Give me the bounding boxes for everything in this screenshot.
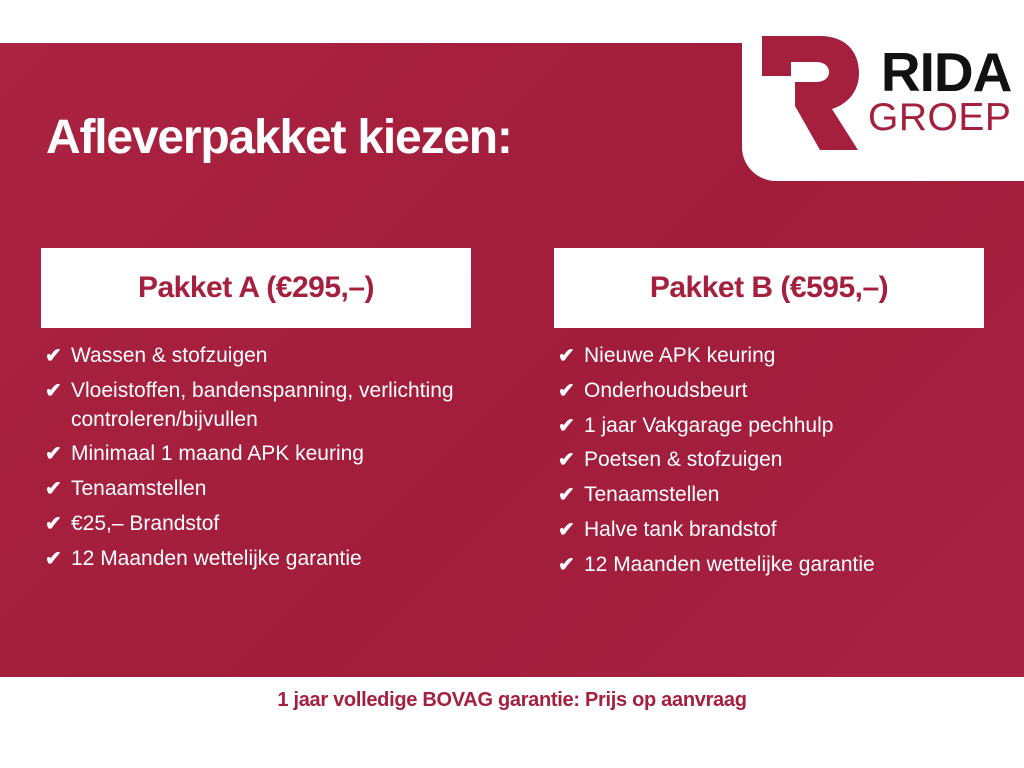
feature-label: Tenaamstellen: [584, 481, 984, 510]
list-item: ✔ Nieuwe APK keuring: [554, 342, 984, 371]
check-icon: ✔: [45, 342, 71, 370]
logo-wordmark: RIDA GROEP: [868, 47, 1011, 135]
check-icon: ✔: [45, 510, 71, 538]
footer-bar: 1 jaar volledige BOVAG garantie: Prijs o…: [0, 677, 1024, 768]
feature-label: 12 Maanden wettelijke garantie: [71, 545, 471, 574]
footer-note: 1 jaar volledige BOVAG garantie: Prijs o…: [277, 689, 746, 712]
package-b-feature-list: ✔ Nieuwe APK keuring ✔ Onderhoudsbeurt ✔…: [554, 342, 984, 579]
feature-label: Tenaamstellen: [71, 475, 471, 504]
logo-name-secondary: GROEP: [868, 100, 1011, 136]
feature-label: Vloeistoffen, bandenspanning, verlichtin…: [71, 377, 471, 435]
feature-label: Onderhoudsbeurt: [584, 377, 984, 406]
page-title: Afleverpakket kiezen:: [46, 110, 512, 165]
package-column-a: Pakket A (€295,–) ✔ Wassen & stofzuigen …: [41, 248, 471, 579]
list-item: ✔ Vloeistoffen, bandenspanning, verlicht…: [41, 377, 471, 435]
list-item: ✔ Tenaamstellen: [41, 475, 471, 504]
list-item: ✔ 12 Maanden wettelijke garantie: [554, 551, 984, 580]
check-icon: ✔: [558, 377, 584, 405]
feature-label: Wassen & stofzuigen: [71, 342, 471, 371]
check-icon: ✔: [558, 516, 584, 544]
list-item: ✔ Tenaamstellen: [554, 481, 984, 510]
check-icon: ✔: [45, 440, 71, 468]
feature-label: Nieuwe APK keuring: [584, 342, 984, 371]
list-item: ✔ €25,– Brandstof: [41, 510, 471, 539]
package-column-b: Pakket B (€595,–) ✔ Nieuwe APK keuring ✔…: [554, 248, 984, 585]
list-item: ✔ Minimaal 1 maand APK keuring: [41, 440, 471, 469]
check-icon: ✔: [558, 551, 584, 579]
list-item: ✔ 12 Maanden wettelijke garantie: [41, 545, 471, 574]
check-icon: ✔: [45, 545, 71, 573]
list-item: ✔ Halve tank brandstof: [554, 516, 984, 545]
package-b-title: Pakket B (€595,–): [650, 271, 888, 305]
slide-root: RIDA GROEP Afleverpakket kiezen: Pakket …: [0, 0, 1024, 768]
check-icon: ✔: [558, 342, 584, 370]
list-item: ✔ 1 jaar Vakgarage pechhulp: [554, 412, 984, 441]
package-b-header: Pakket B (€595,–): [554, 248, 984, 328]
feature-label: €25,– Brandstof: [71, 510, 471, 539]
check-icon: ✔: [558, 412, 584, 440]
feature-label: 1 jaar Vakgarage pechhulp: [584, 412, 984, 441]
list-item: ✔ Onderhoudsbeurt: [554, 377, 984, 406]
rida-r-monogram-icon: [754, 34, 862, 152]
logo-panel: RIDA GROEP: [742, 0, 1024, 181]
feature-label: Minimaal 1 maand APK keuring: [71, 440, 471, 469]
feature-label: 12 Maanden wettelijke garantie: [584, 551, 984, 580]
package-a-header: Pakket A (€295,–): [41, 248, 471, 328]
list-item: ✔ Wassen & stofzuigen: [41, 342, 471, 371]
feature-label: Poetsen & stofzuigen: [584, 446, 984, 475]
logo-name-primary: RIDA: [881, 47, 1011, 98]
check-icon: ✔: [45, 377, 71, 405]
feature-label: Halve tank brandstof: [584, 516, 984, 545]
package-a-title: Pakket A (€295,–): [138, 271, 374, 305]
list-item: ✔ Poetsen & stofzuigen: [554, 446, 984, 475]
package-a-feature-list: ✔ Wassen & stofzuigen ✔ Vloeistoffen, ba…: [41, 342, 471, 573]
check-icon: ✔: [45, 475, 71, 503]
check-icon: ✔: [558, 446, 584, 474]
logo-inner: RIDA GROEP: [742, 0, 1024, 181]
check-icon: ✔: [558, 481, 584, 509]
